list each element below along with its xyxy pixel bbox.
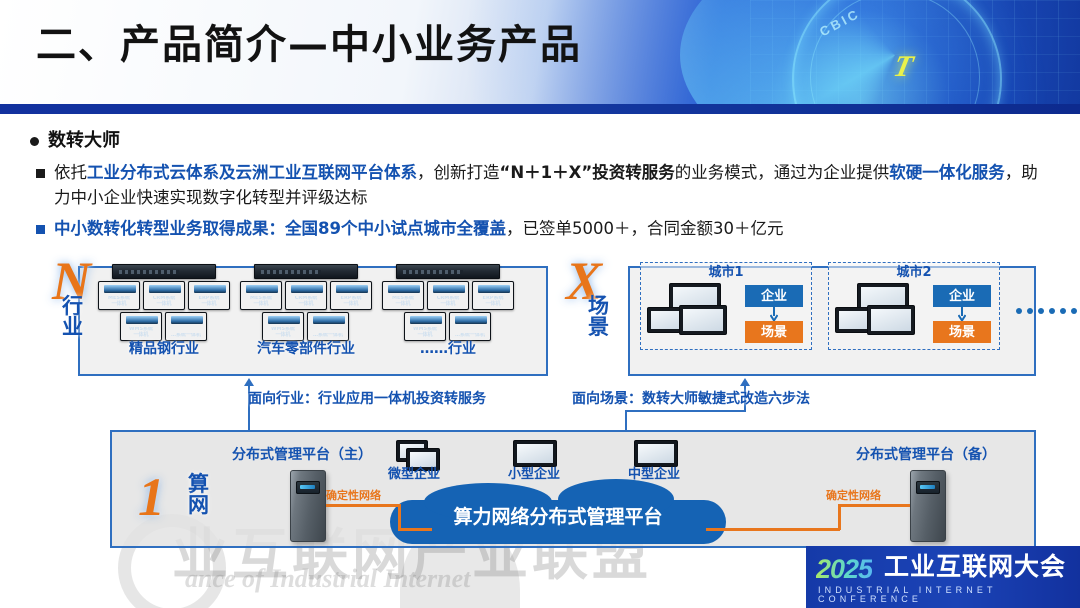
server-box: CRM系统 一体机 (285, 281, 327, 310)
connector-scene-horz (625, 410, 745, 412)
arrow-scene-up-icon (740, 378, 750, 386)
server-label: WMS系统 一体机 (406, 327, 444, 339)
bullet-1-seg-2: 工业分布式云体系及云洲工业互联网平台体系 (87, 163, 417, 182)
rack-server-icon (254, 264, 358, 279)
server-row-bottom: WMS系统 一体机 …系统一体机 (262, 312, 354, 341)
server-box: CRM系统 一体机 (143, 281, 185, 310)
conference-year: 2025 (816, 556, 872, 583)
server-screen-icon (433, 285, 465, 293)
conference-name-cn: 工业互联网大会 (884, 554, 1066, 579)
server-screen-icon (194, 285, 226, 293)
server-row-top: MES系统 一体机 CRM系统 一体机 ERP系统 一体机 (382, 281, 514, 310)
bullet-1-seg-1: 依托 (54, 163, 87, 182)
server-box: ERP系统 一体机 (188, 281, 230, 310)
server-row-top: MES系统 一体机 CRM系统 一体机 ERP系统 一体机 (240, 281, 372, 310)
network-link-left-h2 (398, 528, 432, 531)
industry-name-3: ……行业 (373, 342, 523, 356)
city-1-scene-tag: 场景 (745, 321, 803, 343)
header-accent-bar (0, 104, 1080, 114)
bullet-dot-icon (30, 137, 39, 146)
compute-cloud-label: 算力网络分布式管理平台 (390, 508, 726, 527)
server-box: WMS系统 一体机 (404, 312, 446, 341)
network-link-left-h1 (326, 504, 400, 507)
content-body: 数转大师 依托工业分布式云体系及云洲工业互联网平台体系，创新打造“N＋1＋X”投… (0, 118, 1080, 241)
section-heading-row: 数转大师 (30, 128, 1080, 154)
connector-label-industry: 面向行业：行业应用一体机投资转服务 (248, 392, 486, 406)
server-label: ERP系统 一体机 (474, 296, 512, 308)
slide-root: CBIC T 二、产品简介—中小业务产品 数转大师 依托工业分布式云体系及云洲工… (0, 0, 1080, 608)
panel-compute-network-label: 算网 (188, 474, 214, 517)
slide-header: CBIC T 二、产品简介—中小业务产品 (0, 0, 1080, 104)
server-label: WMS系统 一体机 (122, 327, 160, 339)
server-screen-icon (171, 316, 203, 324)
platform-backup-label: 分布式管理平台（备） (856, 448, 996, 462)
server-label: MES系统 一体机 (242, 296, 280, 308)
bullet-2-seg-2: ，已签单5000＋，合同金额30＋亿元 (506, 219, 784, 238)
down-arrow-icon (770, 307, 778, 321)
enterprise-label-medium: 中型企业 (628, 468, 680, 481)
server-screen-icon (291, 285, 323, 293)
server-screen-icon (126, 316, 158, 324)
city-name-2: 城市2 (829, 266, 999, 279)
network-link-right-h1 (838, 504, 910, 507)
server-screen-icon (455, 316, 487, 324)
monitor-screen-icon (871, 309, 911, 331)
medium-enterprise-device-icon (634, 440, 678, 467)
city-2-enterprise-tag: 企业 (933, 285, 991, 307)
server-label: CRM系统 一体机 (145, 296, 183, 308)
conference-logo: 2025 工业互联网大会 INDUSTRIAL INTERNET CONFERE… (806, 546, 1080, 608)
server-label: CRM系统 一体机 (429, 296, 467, 308)
bullet-2-text: 中小数转化转型业务取得成果：全国89个中小试点城市全覆盖，已签单5000＋，合同… (54, 216, 1044, 241)
server-box: WMS系统 一体机 (120, 312, 162, 341)
connector-industry-vert-2 (248, 410, 250, 432)
bullet-row-1: 依托工业分布式云体系及云洲工业互联网平台体系，创新打造“N＋1＋X”投资转服务的… (36, 160, 1080, 210)
network-label-right: 确定性网络 (826, 490, 881, 501)
device-screen-icon (517, 444, 553, 463)
server-box: CRM系统 一体机 (427, 281, 469, 310)
enterprise-label-micro: 微型企业 (388, 468, 440, 481)
city-2-scene-tag: 场景 (933, 321, 991, 343)
network-label-left: 确定性网络 (326, 490, 381, 501)
enterprise-label-small: 小型企业 (508, 468, 560, 481)
server-screen-icon (336, 285, 368, 293)
connector-scene-vert-2 (625, 410, 627, 432)
server-label: MES系统 一体机 (100, 296, 138, 308)
section-heading: 数转大师 (48, 128, 120, 154)
network-link-right-v (838, 504, 841, 530)
industry-cluster-1: MES系统 一体机 CRM系统 一体机 ERP系统 一体机 WMS系统 一体机 … (98, 264, 230, 342)
server-screen-icon (410, 316, 442, 324)
server-box: MES系统 一体机 (382, 281, 424, 310)
monitor-screen-icon (683, 309, 723, 331)
server-row-bottom: WMS系统 一体机 …系统一体机 (120, 312, 212, 341)
server-screen-icon (246, 285, 278, 293)
server-box: …系统一体机 (307, 312, 349, 341)
industry-cluster-3: MES系统 一体机 CRM系统 一体机 ERP系统 一体机 WMS系统 一体机 … (382, 264, 514, 342)
device-screen-icon (638, 444, 674, 463)
city-1-enterprise-tag: 企业 (745, 285, 803, 307)
server-screen-icon (104, 285, 136, 293)
bullet-1-seg-4: “N＋1＋X”投资转服务 (500, 163, 675, 182)
server-box: ERP系统 一体机 (472, 281, 514, 310)
server-label: ERP系统 一体机 (332, 296, 370, 308)
monitor-icon (867, 305, 915, 335)
server-screen-icon (313, 316, 345, 324)
network-link-right-h2 (706, 528, 840, 531)
architecture-diagram: 业互联网产业联盟 ance of Industrial Internet N 行… (0, 252, 1080, 562)
server-row-bottom: WMS系统 一体机 …系统一体机 (404, 312, 496, 341)
server-row-top: MES系统 一体机 CRM系统 一体机 ERP系统 一体机 (98, 281, 230, 310)
more-cities-ellipsis-icon (1016, 308, 1077, 314)
down-arrow-icon (958, 307, 966, 321)
bullet-2-seg-1: 中小数转化转型业务取得成果：全国89个中小试点城市全覆盖 (54, 219, 506, 238)
bullet-1-seg-6: 软硬一体化服务 (889, 163, 1005, 182)
server-screen-icon (478, 285, 510, 293)
bullet-square-icon (36, 169, 45, 178)
server-box: MES系统 一体机 (240, 281, 282, 310)
industry-name-2: 汽车零部件行业 (231, 342, 381, 356)
rack-server-icon (112, 264, 216, 279)
server-label: …系统一体机 (309, 333, 347, 339)
server-label: …系统一体机 (167, 333, 205, 339)
server-box: MES系统 一体机 (98, 281, 140, 310)
conference-name-en: INDUSTRIAL INTERNET CONFERENCE (818, 586, 1080, 604)
bullet-1-seg-3: ，创新打造 (417, 163, 500, 182)
arrow-industry-up-icon (244, 378, 254, 386)
industry-name-1: 精品钢行业 (89, 342, 239, 356)
city-box-2: 城市2 企业 场景 (828, 262, 1000, 350)
rack-server-icon (396, 264, 500, 279)
device-screen-icon (410, 452, 436, 467)
server-box: …系统一体机 (165, 312, 207, 341)
server-label: ERP系统 一体机 (190, 296, 228, 308)
server-label: …系统一体机 (451, 333, 489, 339)
connector-label-scene: 面向场景：数转大师敏捷式改造六步法 (572, 392, 810, 406)
server-box: ERP系统 一体机 (330, 281, 372, 310)
bullet-square-blue-icon (36, 225, 45, 234)
city-box-1: 城市1 企业 场景 (640, 262, 812, 350)
server-label: MES系统 一体机 (384, 296, 422, 308)
monitor-icon (679, 305, 727, 335)
server-label: WMS系统 一体机 (264, 327, 302, 339)
badge-1: 1 (138, 470, 165, 524)
server-box: WMS系统 一体机 (262, 312, 304, 341)
platform-main-server-icon (290, 470, 326, 542)
server-screen-icon (268, 316, 300, 324)
industry-cluster-2: MES系统 一体机 CRM系统 一体机 ERP系统 一体机 WMS系统 一体机 … (240, 264, 372, 342)
server-label: CRM系统 一体机 (287, 296, 325, 308)
panel-scene-label: 场景 (588, 296, 614, 339)
server-screen-icon (149, 285, 181, 293)
server-box: …系统一体机 (449, 312, 491, 341)
small-enterprise-device-icon (513, 440, 557, 467)
server-screen-icon (388, 285, 420, 293)
page-title: 二、产品简介—中小业务产品 (36, 22, 582, 68)
bullet-1-text: 依托工业分布式云体系及云洲工业互联网平台体系，创新打造“N＋1＋X”投资转服务的… (54, 160, 1044, 210)
bullet-1-seg-5: 的业务模式，通过为企业提供 (675, 163, 890, 182)
panel-industry-label: 行业 (62, 296, 88, 339)
bullet-row-2: 中小数转化转型业务取得成果：全国89个中小试点城市全覆盖，已签单5000＋，合同… (36, 216, 1080, 241)
city-name-1: 城市1 (641, 266, 811, 279)
platform-main-label: 分布式管理平台（主） (232, 448, 372, 462)
platform-backup-server-icon (910, 470, 946, 542)
